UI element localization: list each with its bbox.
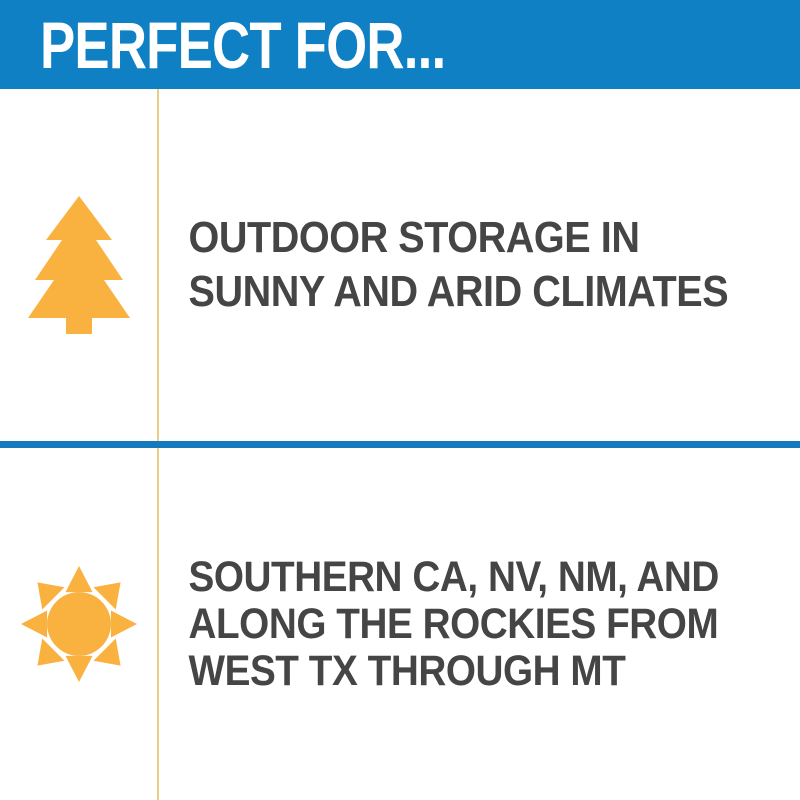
feature-row-regions: SOUTHERN CA, NV, NM, AND ALONG THE ROCKI… [0, 448, 800, 800]
evergreen-tree-icon [28, 196, 130, 334]
perfect-for-infographic: PERFECT FOR... OUTDOOR STORAGE IN SUNNY … [0, 0, 800, 800]
horizontal-divider [0, 441, 800, 448]
text-cell-regions: SOUTHERN CA, NV, NM, AND ALONG THE ROCKI… [157, 448, 800, 800]
header-banner: PERFECT FOR... [0, 0, 800, 89]
text-cell-outdoor-storage: OUTDOOR STORAGE IN SUNNY AND ARID CLIMAT… [157, 89, 800, 441]
feature-text-outdoor-storage: OUTDOOR STORAGE IN SUNNY AND ARID CLIMAT… [157, 211, 735, 319]
feature-row-outdoor-storage: OUTDOOR STORAGE IN SUNNY AND ARID CLIMAT… [0, 89, 800, 441]
icon-cell-sun [0, 448, 157, 800]
page-title: PERFECT FOR... [40, 12, 445, 78]
feature-text-regions: SOUTHERN CA, NV, NM, AND ALONG THE ROCKI… [157, 554, 726, 695]
icon-cell-tree [0, 89, 157, 441]
sun-icon [21, 560, 137, 688]
